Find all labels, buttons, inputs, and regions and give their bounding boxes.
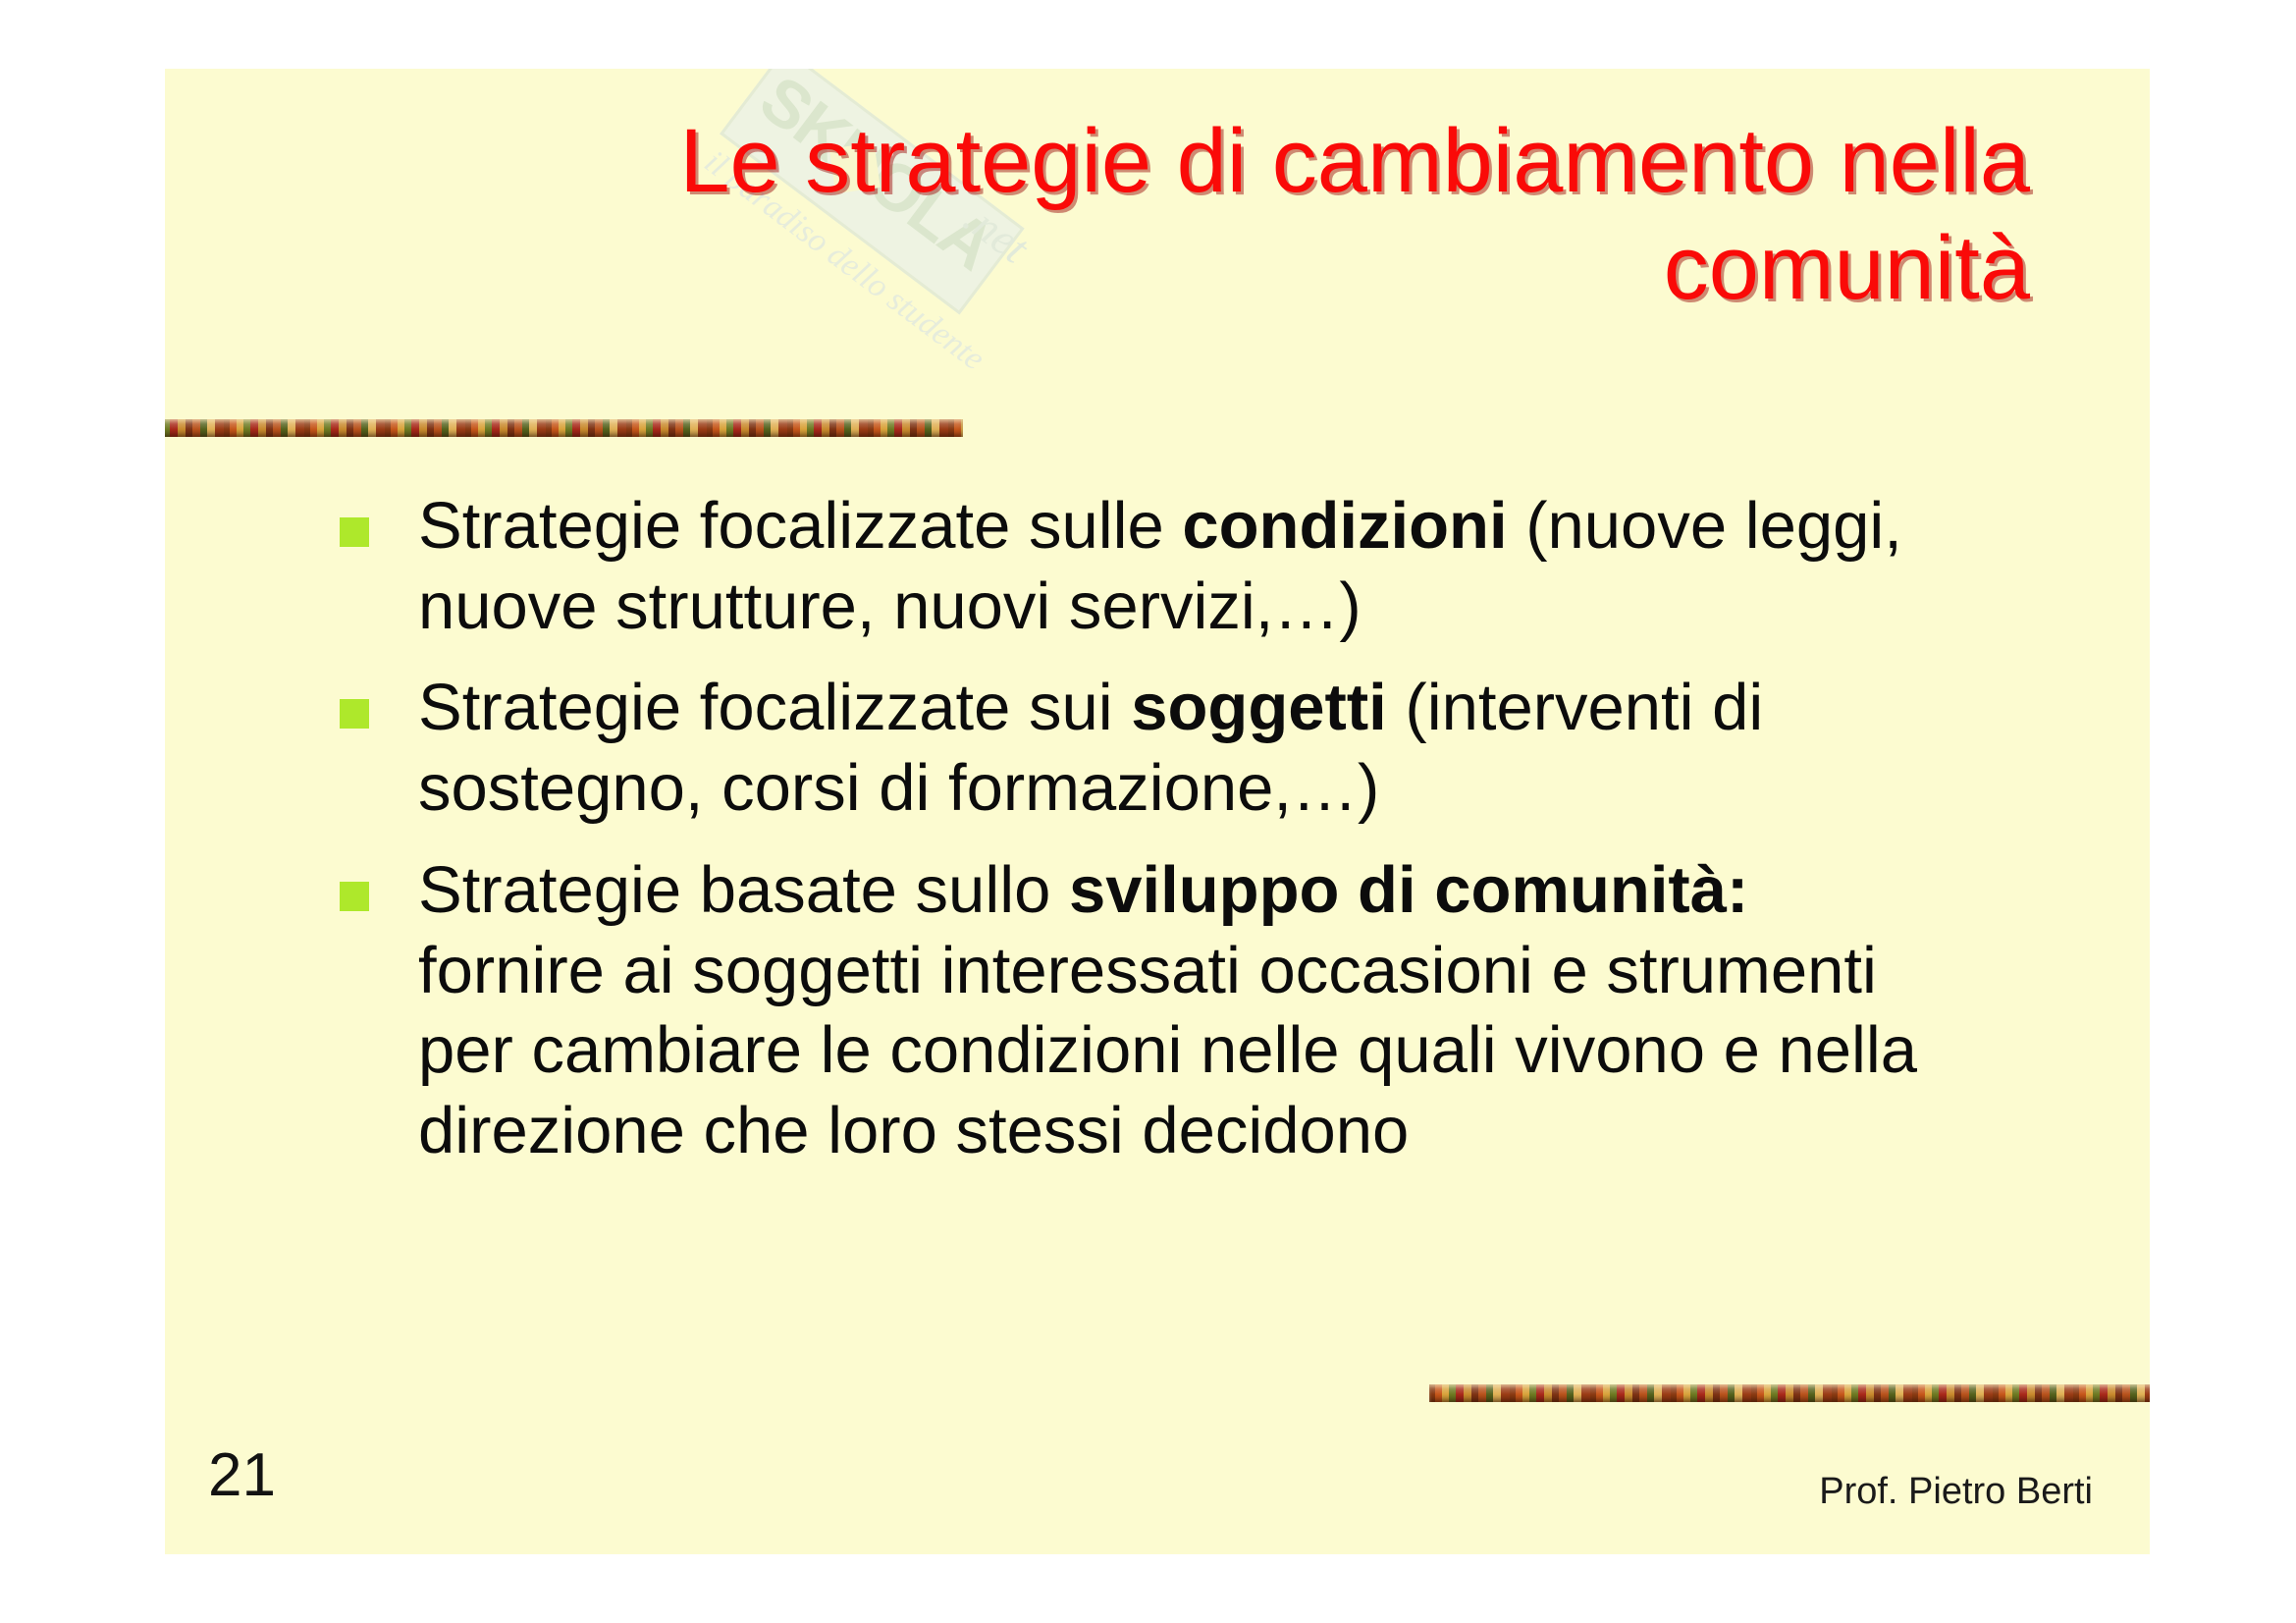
title-divider-bar bbox=[165, 419, 963, 437]
slide-canvas: SKUOLA .net il paradiso dello studente L… bbox=[165, 69, 2150, 1554]
bullet-square-icon bbox=[340, 517, 369, 547]
slide-title: Le strategie di cambiamento nella comuni… bbox=[361, 108, 2030, 321]
author-credit: Prof. Pietro Berti bbox=[1819, 1471, 2093, 1513]
footer-divider-bar bbox=[1429, 1384, 2150, 1402]
bullet-square-icon bbox=[340, 699, 369, 729]
bullet-square-icon bbox=[340, 882, 369, 911]
list-item: Strategie focalizzate sui soggetti (inte… bbox=[175, 668, 2069, 828]
bullet-list: Strategie focalizzate sulle condizioni (… bbox=[175, 486, 2069, 1193]
list-item: Strategie focalizzate sulle condizioni (… bbox=[175, 486, 2069, 646]
bullet-text: Strategie focalizzate sui soggetti (inte… bbox=[418, 668, 2069, 828]
page-number: 21 bbox=[208, 1440, 276, 1510]
bullet-text: Strategie basate sullo sviluppo di comun… bbox=[418, 850, 2069, 1171]
bullet-text: Strategie focalizzate sulle condizioni (… bbox=[418, 486, 2069, 646]
list-item: Strategie basate sullo sviluppo di comun… bbox=[175, 850, 2069, 1171]
